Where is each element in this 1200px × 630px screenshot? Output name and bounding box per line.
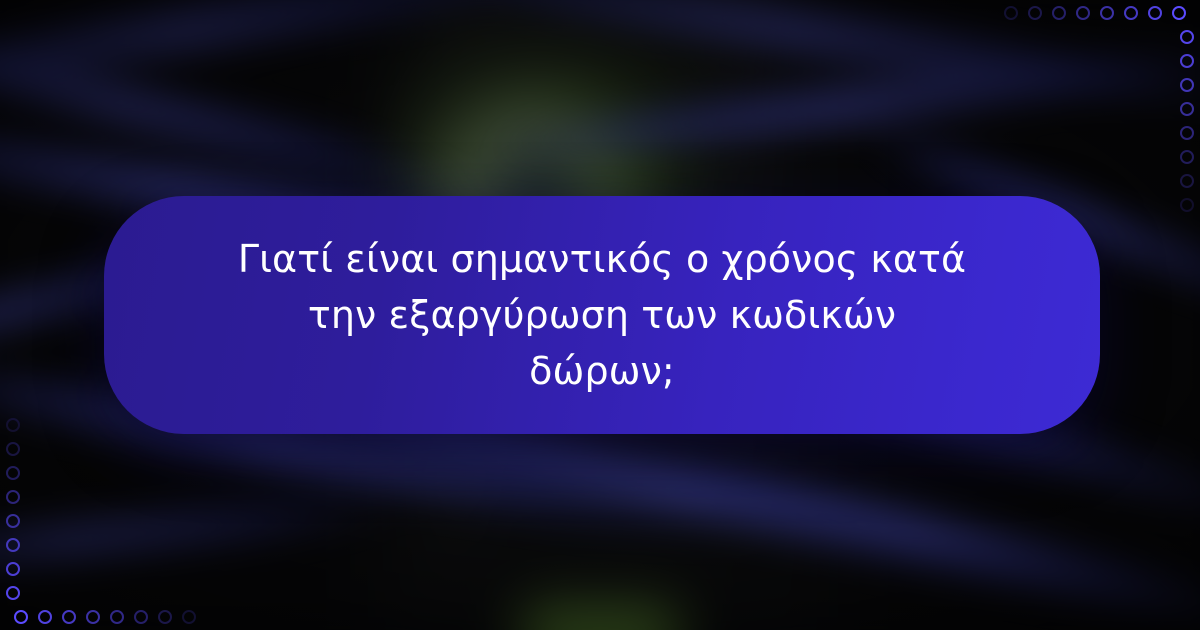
screenshot-green-cta-button [524, 609, 678, 630]
screenshot-content-rows [420, 437, 770, 596]
social-share-card: Γιατί είναι σημαντικός ο χρόνος κατά την… [0, 0, 1200, 630]
screenshot-app-topbar [420, 0, 770, 11]
headline-text: Γιατί είναι σημαντικός ο χρόνος κατά την… [232, 231, 972, 400]
headline-card: Γιατί είναι σημαντικός ο χρόνος κατά την… [104, 196, 1100, 434]
screenshot-content-column [446, 447, 467, 606]
